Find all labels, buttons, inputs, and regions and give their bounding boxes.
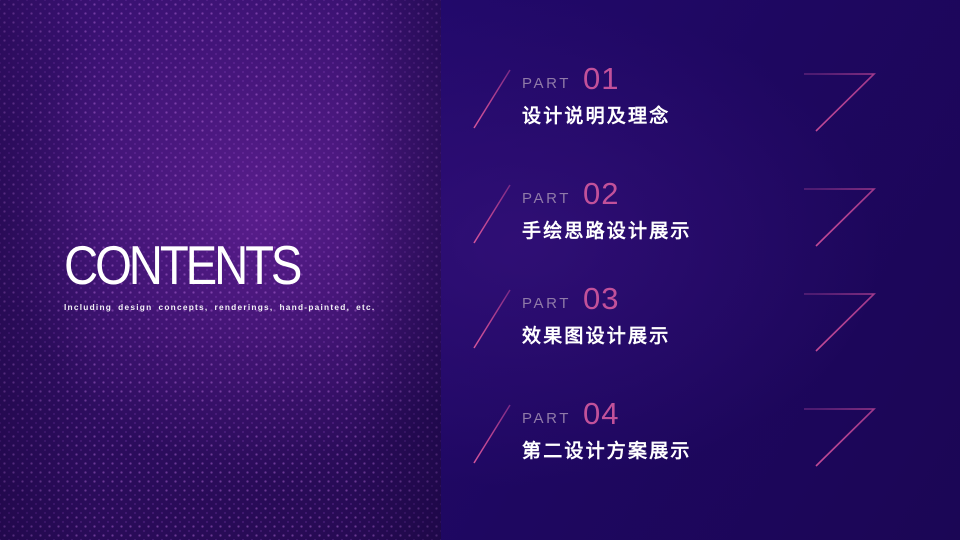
seven-arrow-icon <box>802 405 878 469</box>
list-item[interactable]: PART 04 第二设计方案展示 <box>470 399 940 471</box>
part-number: 01 <box>583 63 619 94</box>
corner-diagonal-icon <box>470 288 518 356</box>
part-number: 02 <box>583 178 619 209</box>
part-number: 04 <box>583 398 619 429</box>
corner-diagonal-icon <box>470 403 518 471</box>
part-label: PART <box>522 296 571 314</box>
contents-slide: CONTENTS Including design concepts, rend… <box>0 0 960 540</box>
corner-diagonal-icon <box>470 183 518 251</box>
corner-diagonal-icon <box>470 68 518 136</box>
list-item[interactable]: PART 03 效果图设计展示 <box>470 284 940 356</box>
part-label: PART <box>522 76 571 94</box>
part-label: PART <box>522 411 571 429</box>
part-label: PART <box>522 191 571 209</box>
seven-arrow-icon <box>802 70 878 134</box>
list-item[interactable]: PART 01 设计说明及理念 <box>470 64 940 136</box>
contents-list: PART 01 设计说明及理念 <box>0 0 960 540</box>
seven-arrow-icon <box>802 185 878 249</box>
seven-arrow-icon <box>802 290 878 354</box>
part-number: 03 <box>583 283 619 314</box>
list-item[interactable]: PART 02 手绘思路设计展示 <box>470 179 940 251</box>
